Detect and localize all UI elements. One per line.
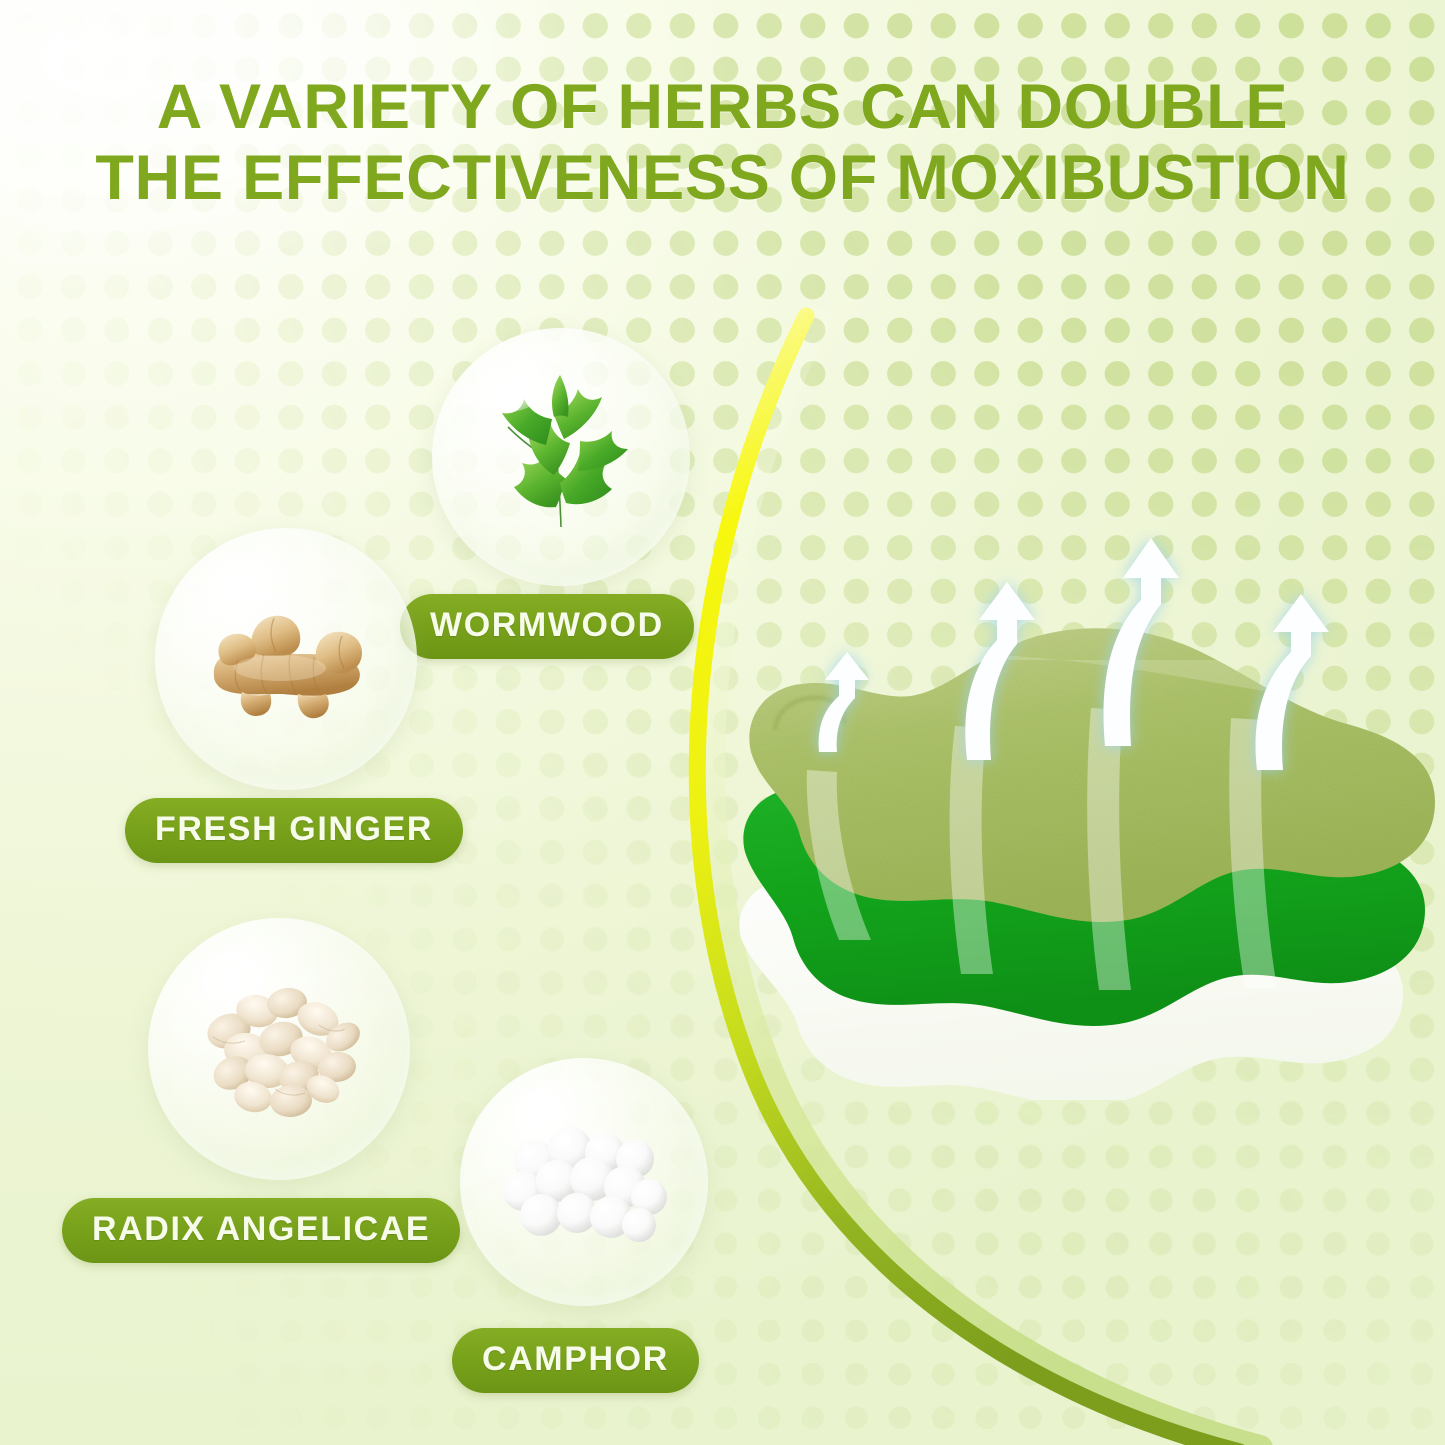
ingredient-label-camphor: CAMPHOR <box>452 1328 699 1393</box>
moxibustion-patch-illustration <box>735 520 1445 1100</box>
ingredient-label-fresh-ginger: FRESH GINGER <box>125 798 463 863</box>
dried-root-slices-icon <box>148 918 410 1180</box>
ingredient-bubble-camphor[interactable] <box>460 1058 708 1306</box>
wormwood-leaves-icon <box>432 328 690 586</box>
ingredient-bubble-fresh-ginger[interactable] <box>155 528 417 790</box>
camphor-balls-icon <box>460 1058 708 1306</box>
ingredient-label-radix-angelicae: RADIX ANGELICAE <box>62 1198 460 1263</box>
ingredient-bubble-radix-angelicae[interactable] <box>148 918 410 1180</box>
page-title: A VARIETY OF HERBS CAN DOUBLE THE EFFECT… <box>0 72 1445 214</box>
ginger-root-icon <box>155 528 417 790</box>
ingredient-bubble-wormwood[interactable] <box>432 328 690 586</box>
infographic-poster: A VARIETY OF HERBS CAN DOUBLE THE EFFECT… <box>0 0 1445 1445</box>
ingredient-label-wormwood: WORMWOOD <box>400 594 694 659</box>
